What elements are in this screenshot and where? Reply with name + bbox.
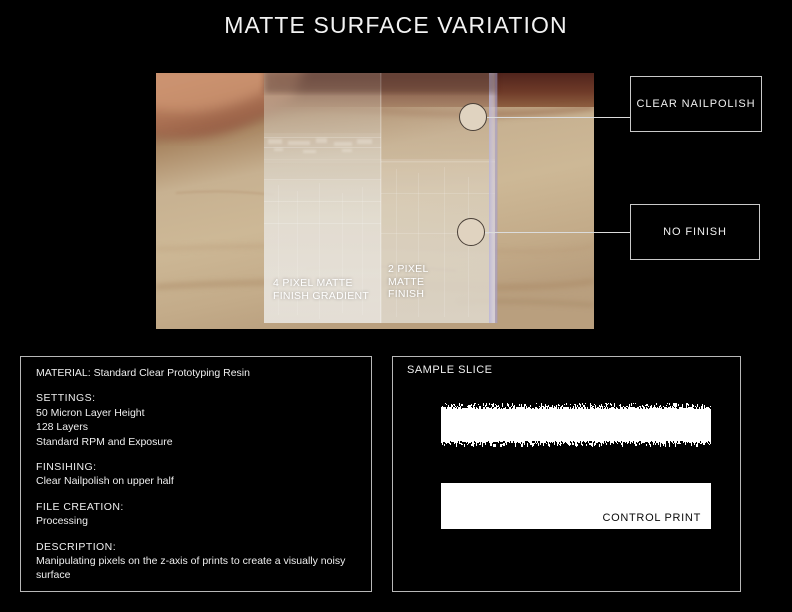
photo-label-4-pixel: 4 PIXEL MATTE FINISH GRADIENT <box>273 277 369 302</box>
sample-photo <box>156 73 594 329</box>
photo-label-2-pixel-line3: FINISH <box>388 288 429 301</box>
photo-label-4-pixel-line2: FINISH GRADIENT <box>273 290 369 303</box>
leader-line-clear-nailpolish <box>487 117 632 118</box>
callout-marker-clear-nailpolish <box>459 103 487 131</box>
matte-slice-bar <box>441 401 711 449</box>
control-slice-bar: CONTROL PRINT <box>441 483 711 529</box>
spec-description-heading: DESCRIPTION: <box>36 540 371 554</box>
callout-label-clear-nailpolish: CLEAR NAILPOLISH <box>637 98 756 110</box>
spec-settings-heading: SETTINGS: <box>36 391 371 405</box>
spec-file-creation-value: Processing <box>36 514 371 528</box>
callout-box-no-finish: NO FINISH <box>630 204 760 260</box>
spacer <box>36 449 371 460</box>
spacer <box>36 380 371 391</box>
photo-label-2-pixel: 2 PIXEL MATTE FINISH <box>388 263 429 301</box>
spec-material-line: MATERIAL: Standard Clear Prototyping Res… <box>36 366 371 380</box>
spec-finishing-value: Clear Nailpolish on upper half <box>36 474 371 488</box>
control-print-label: CONTROL PRINT <box>602 512 701 524</box>
page-title: MATTE SURFACE VARIATION <box>0 12 792 39</box>
spec-file-creation-heading: FILE CREATION: <box>36 500 371 514</box>
spec-setting-rpm-exposure: Standard RPM and Exposure <box>36 435 371 449</box>
spec-setting-layer-height: 50 Micron Layer Height <box>36 406 371 420</box>
spec-description-value: Manipulating pixels on the z-axis of pri… <box>36 554 351 583</box>
leader-line-no-finish <box>485 232 632 233</box>
spacer <box>36 489 371 500</box>
spec-finishing-heading: FINSIHING: <box>36 460 371 474</box>
spacer <box>36 529 371 540</box>
callout-box-clear-nailpolish: CLEAR NAILPOLISH <box>630 76 762 132</box>
photo-label-4-pixel-line1: 4 PIXEL MATTE <box>273 277 369 290</box>
specs-panel-body: MATERIAL: Standard Clear Prototyping Res… <box>21 357 371 583</box>
callout-marker-no-finish <box>457 218 485 246</box>
sample-slice-title: SAMPLE SLICE <box>407 364 492 376</box>
spec-setting-layers: 128 Layers <box>36 420 371 434</box>
callout-label-no-finish: NO FINISH <box>663 226 727 238</box>
sample-photo-image <box>156 73 594 329</box>
matte-slice-bar-graphic <box>441 401 711 449</box>
photo-label-2-pixel-line1: 2 PIXEL <box>388 263 429 276</box>
sample-slice-panel: SAMPLE SLICE CONTROL PRINT <box>392 356 741 592</box>
specs-panel: MATERIAL: Standard Clear Prototyping Res… <box>20 356 372 592</box>
photo-label-2-pixel-line2: MATTE <box>388 276 429 289</box>
